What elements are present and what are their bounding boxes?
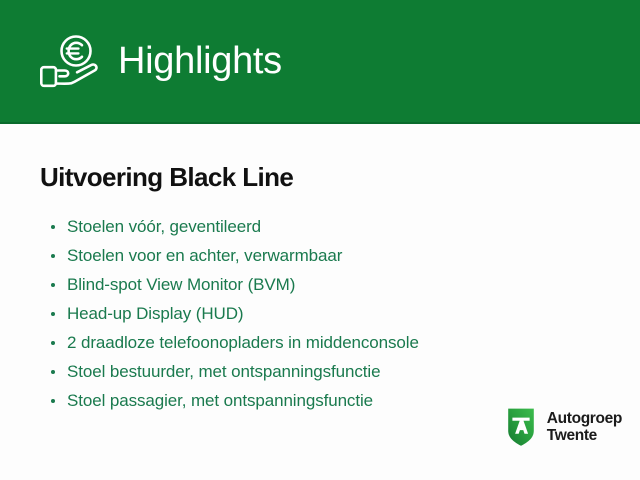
list-item: Head-up Display (HUD) [40, 299, 600, 328]
shield-a-logo-icon [504, 406, 538, 448]
bullet-dot-icon [51, 341, 55, 345]
list-item-label: Stoelen vóór, geventileerd [67, 217, 261, 236]
header-title: Highlights [118, 42, 282, 80]
list-item-label: Stoel passagier, met ontspanningsfunctie [67, 391, 373, 410]
brand-logo: Autogroep Twente [504, 406, 622, 448]
list-item-label: Blind-spot View Monitor (BVM) [67, 275, 295, 294]
list-item: Stoelen voor en achter, verwarmbaar [40, 241, 600, 270]
highlights-slide: Highlights Uitvoering Black Line Stoelen… [0, 0, 640, 480]
bullet-dot-icon [51, 283, 55, 287]
bullet-dot-icon [51, 399, 55, 403]
logo-wordmark: Autogroep Twente [547, 410, 622, 444]
feature-list: Stoelen vóór, geventileerd Stoelen voor … [40, 212, 600, 415]
content-area: Uitvoering Black Line Stoelen vóór, geve… [0, 124, 640, 480]
list-item-label: Stoelen voor en achter, verwarmbaar [67, 246, 342, 265]
bullet-dot-icon [51, 370, 55, 374]
bullet-dot-icon [51, 225, 55, 229]
logo-line-2: Twente [547, 427, 622, 444]
bullet-dot-icon [51, 312, 55, 316]
header-banner: Highlights [0, 0, 640, 124]
list-item: Stoel bestuurder, met ontspanningsfuncti… [40, 357, 600, 386]
list-item-label: Stoel bestuurder, met ontspanningsfuncti… [67, 362, 380, 381]
bullet-dot-icon [51, 254, 55, 258]
list-item: Blind-spot View Monitor (BVM) [40, 270, 600, 299]
list-item-label: Head-up Display (HUD) [67, 304, 243, 323]
list-item: 2 draadloze telefoonopladers in middenco… [40, 328, 600, 357]
list-item-label: 2 draadloze telefoonopladers in middenco… [67, 333, 419, 352]
list-item: Stoelen vóór, geventileerd [40, 212, 600, 241]
hand-holding-euro-coin-icon [38, 34, 100, 90]
section-title: Uitvoering Black Line [40, 164, 293, 190]
logo-line-1: Autogroep [547, 410, 622, 427]
